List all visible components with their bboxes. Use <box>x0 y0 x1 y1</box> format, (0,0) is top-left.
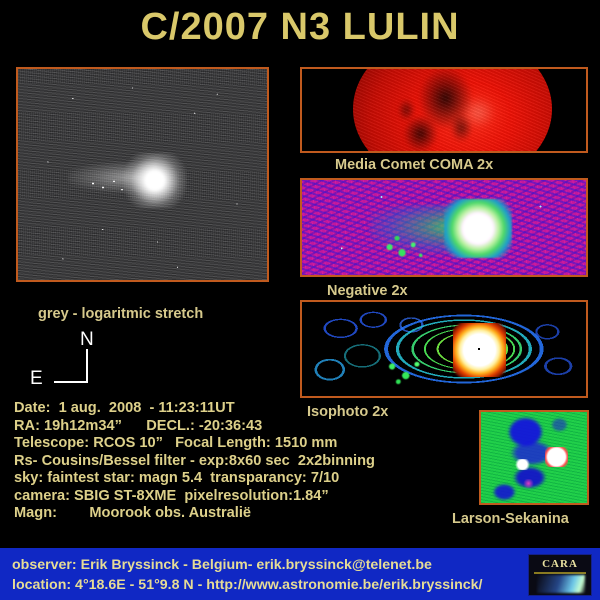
cara-comet-icon <box>537 575 585 593</box>
meta-telescope: Telescope: RCOS 10” Focal Length: 1510 m… <box>14 435 474 453</box>
image-panel-negative[interactable] <box>300 178 588 277</box>
caption-media-comet-coma: Media Comet COMA 2x <box>335 157 493 173</box>
larson-pink-knot <box>523 479 534 487</box>
isophoto-center-marker <box>478 348 480 350</box>
image-panel-isophoto[interactable] <box>300 300 588 398</box>
coma-noise-texture <box>353 67 552 153</box>
larson-blue-structures <box>481 412 587 503</box>
compass-north-label: N <box>80 329 94 351</box>
compass-rose: N E <box>30 335 140 397</box>
isophoto-coma-contours <box>302 302 586 396</box>
image-panel-grey-log-stretch[interactable] <box>16 67 269 282</box>
image-panel-media-comet-coma[interactable] <box>300 67 588 153</box>
meta-sky-conditions: sky: faintest star: magn 5.4 transparanc… <box>14 470 474 488</box>
caption-negative: Negative 2x <box>327 283 408 299</box>
cara-logo-text: CARA <box>529 558 591 570</box>
meta-filter-exposure: Rs- Cousins/Bessel filter - exp:8x60 sec… <box>14 453 474 471</box>
footer-observer: observer: Erik Bryssinck - Belgium- erik… <box>12 548 600 575</box>
larson-white-knot <box>515 459 530 470</box>
larson-bright-core <box>545 447 568 467</box>
observation-metadata: Date: 1 aug. 2008 - 11:23:11UT RA: 19h12… <box>14 400 474 523</box>
image-panel-larson-sekanina[interactable] <box>479 410 589 505</box>
caption-grey: grey - logaritmic stretch <box>38 306 203 322</box>
cara-logo: CARA <box>528 554 592 596</box>
isophoto-jet-knots <box>376 349 438 387</box>
cara-logo-divider <box>534 572 586 574</box>
meta-coordinates: RA: 19h12m34” DECL.: -20:36:43 <box>14 418 474 436</box>
compass-east-label: E <box>30 368 43 390</box>
page-title: C/2007 N3 LULIN <box>0 6 600 49</box>
negative-field-stars <box>302 180 586 275</box>
meta-camera: camera: SBIG ST-8XME pixelresolution:1.8… <box>14 488 474 506</box>
meta-date: Date: 1 aug. 2008 - 11:23:11UT <box>14 400 474 418</box>
compass-east-line <box>54 381 88 383</box>
compass-north-line <box>86 349 88 383</box>
grey-comet-nucleus <box>123 153 188 208</box>
comet-poster: C/2007 N3 LULIN grey - logaritmic stretc… <box>0 0 600 600</box>
footer-bar: observer: Erik Bryssinck - Belgium- erik… <box>0 548 600 600</box>
footer-location[interactable]: location: 4°18.6E - 51°9.8 N - http://ww… <box>12 575 600 595</box>
meta-magnitude-location: Magn: Moorook obs. Australië <box>14 505 474 523</box>
